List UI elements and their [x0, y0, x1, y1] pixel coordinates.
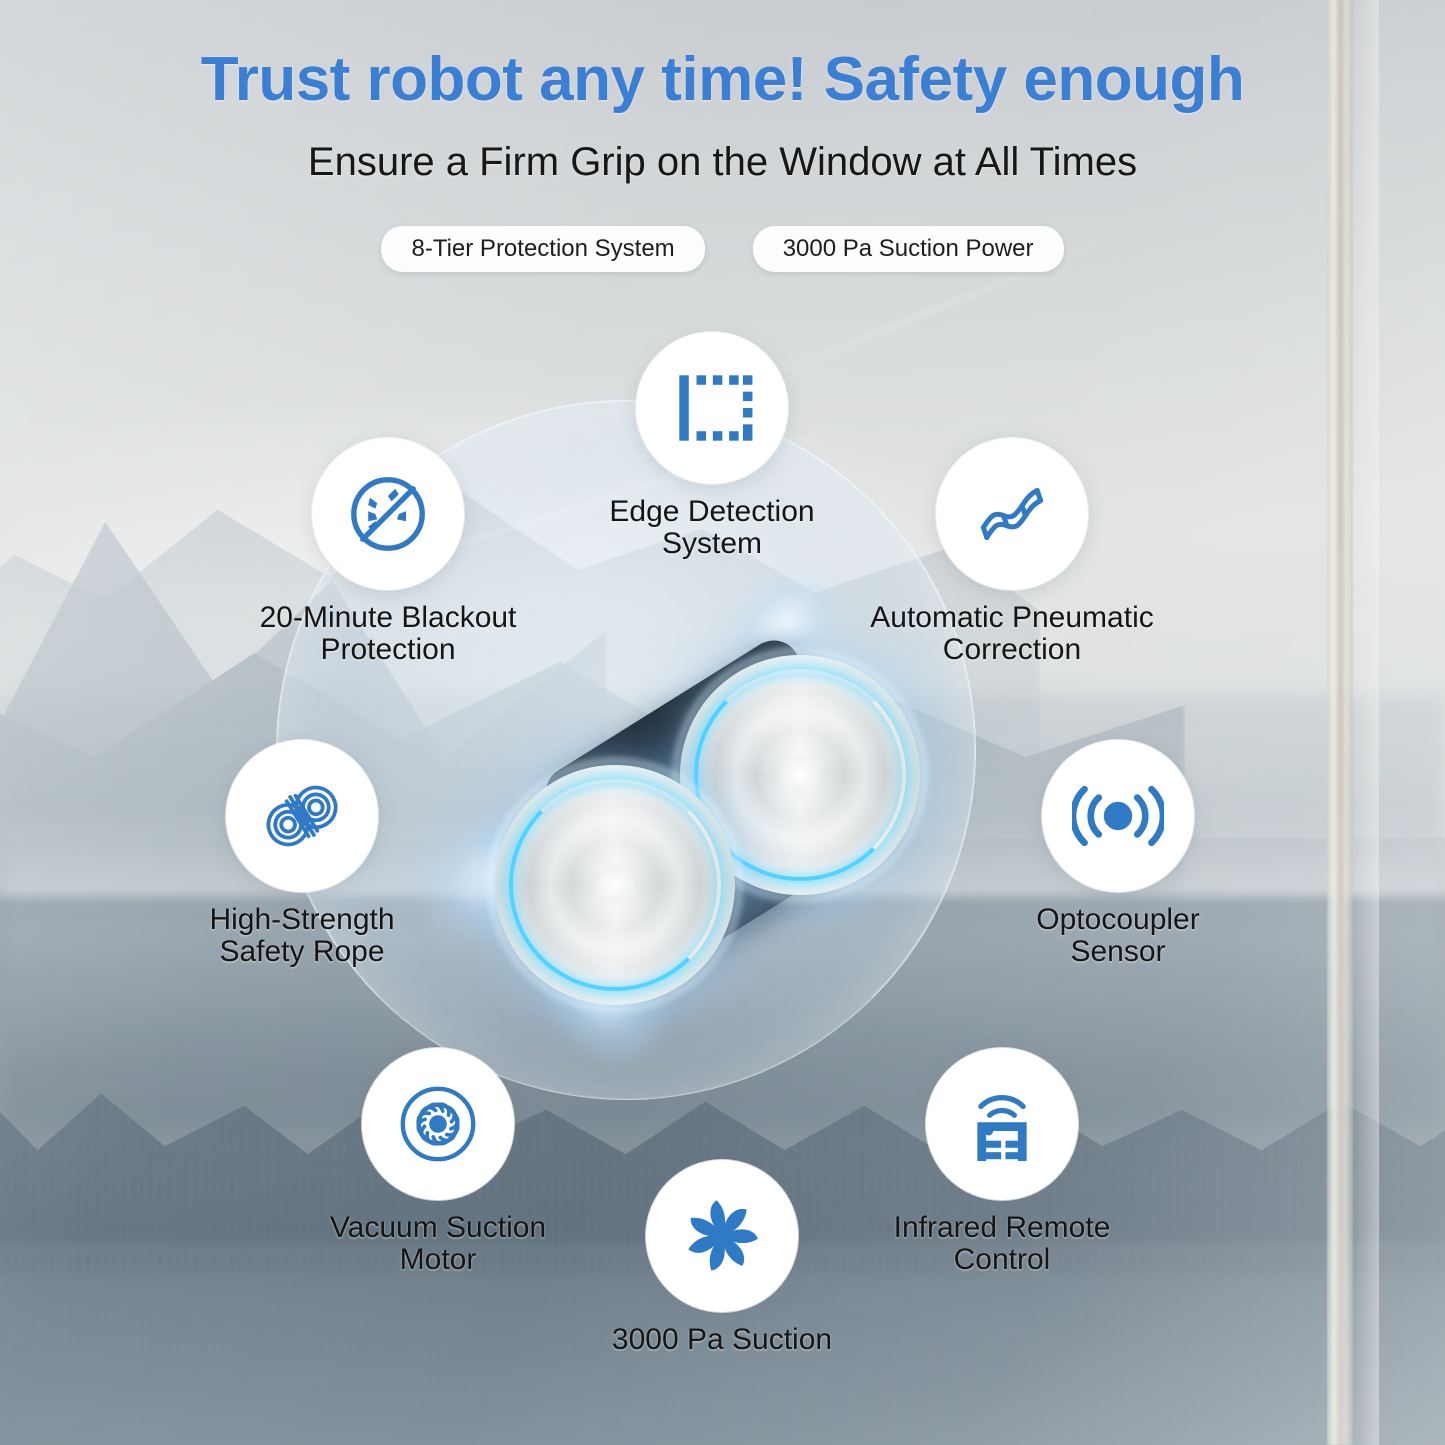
feature-pneumatic-correction[interactable]: Automatic Pneumatic Correction — [862, 438, 1162, 666]
cleaning-pad — [495, 765, 735, 1005]
feature-icon-bubble — [1042, 740, 1194, 892]
no-power-icon — [343, 469, 433, 559]
edge-detection-icon — [669, 365, 755, 451]
feature-label: Infrared Remote Control — [852, 1212, 1152, 1276]
badge-row: 8-Tier Protection System 3000 Pa Suction… — [0, 226, 1445, 272]
feature-icon-bubble — [926, 1048, 1078, 1200]
window-frame-mullion — [1327, 0, 1353, 1445]
feature-icon-bubble — [362, 1048, 514, 1200]
pinwheel-fan-icon — [678, 1192, 766, 1280]
feature-vacuum-motor[interactable]: Vacuum Suction Motor — [288, 1048, 588, 1276]
feature-label: Edge Detection System — [562, 496, 862, 560]
feature-suction-power[interactable]: 3000 Pa Suction — [572, 1160, 872, 1356]
pad-center — [596, 866, 634, 904]
feature-label: High-Strength Safety Rope — [152, 904, 452, 968]
badge-suction-power: 3000 Pa Suction Power — [753, 226, 1064, 272]
page-subheadline: Ensure a Firm Grip on the Window at All … — [0, 140, 1445, 185]
feature-optocoupler-sensor[interactable]: Optocoupler Sensor — [968, 740, 1268, 968]
page-headline: Trust robot any time! Safety enough — [0, 44, 1445, 115]
feature-label: 3000 Pa Suction — [572, 1324, 872, 1356]
feature-label: Optocoupler Sensor — [968, 904, 1268, 968]
feature-icon-bubble — [936, 438, 1088, 590]
feature-icon-bubble — [636, 332, 788, 484]
turbine-impeller-icon — [394, 1080, 482, 1168]
badge-protection-system: 8-Tier Protection System — [381, 226, 704, 272]
window-cleaning-robot-image — [455, 635, 955, 1025]
signal-sensor-icon — [1072, 773, 1164, 859]
feature-label: Automatic Pneumatic Correction — [862, 602, 1162, 666]
coiled-rope-icon — [257, 773, 347, 859]
feature-label: Vacuum Suction Motor — [288, 1212, 588, 1276]
feature-infrared-remote[interactable]: Infrared Remote Control — [852, 1048, 1152, 1276]
feature-blackout-protection[interactable]: 20-Minute Blackout Protection — [238, 438, 538, 666]
feature-safety-rope[interactable]: High-Strength Safety Rope — [152, 740, 452, 968]
pad-center — [781, 756, 819, 794]
feature-icon-bubble — [646, 1160, 798, 1312]
feature-icon-bubble — [312, 438, 464, 590]
feature-icon-bubble — [226, 740, 378, 892]
window-frame-shadow — [1351, 0, 1379, 1445]
remote-control-icon — [958, 1080, 1046, 1168]
feature-label: 20-Minute Blackout Protection — [238, 602, 538, 666]
wavy-ribbon-icon — [970, 472, 1054, 556]
feature-edge-detection[interactable]: Edge Detection System — [562, 332, 862, 560]
